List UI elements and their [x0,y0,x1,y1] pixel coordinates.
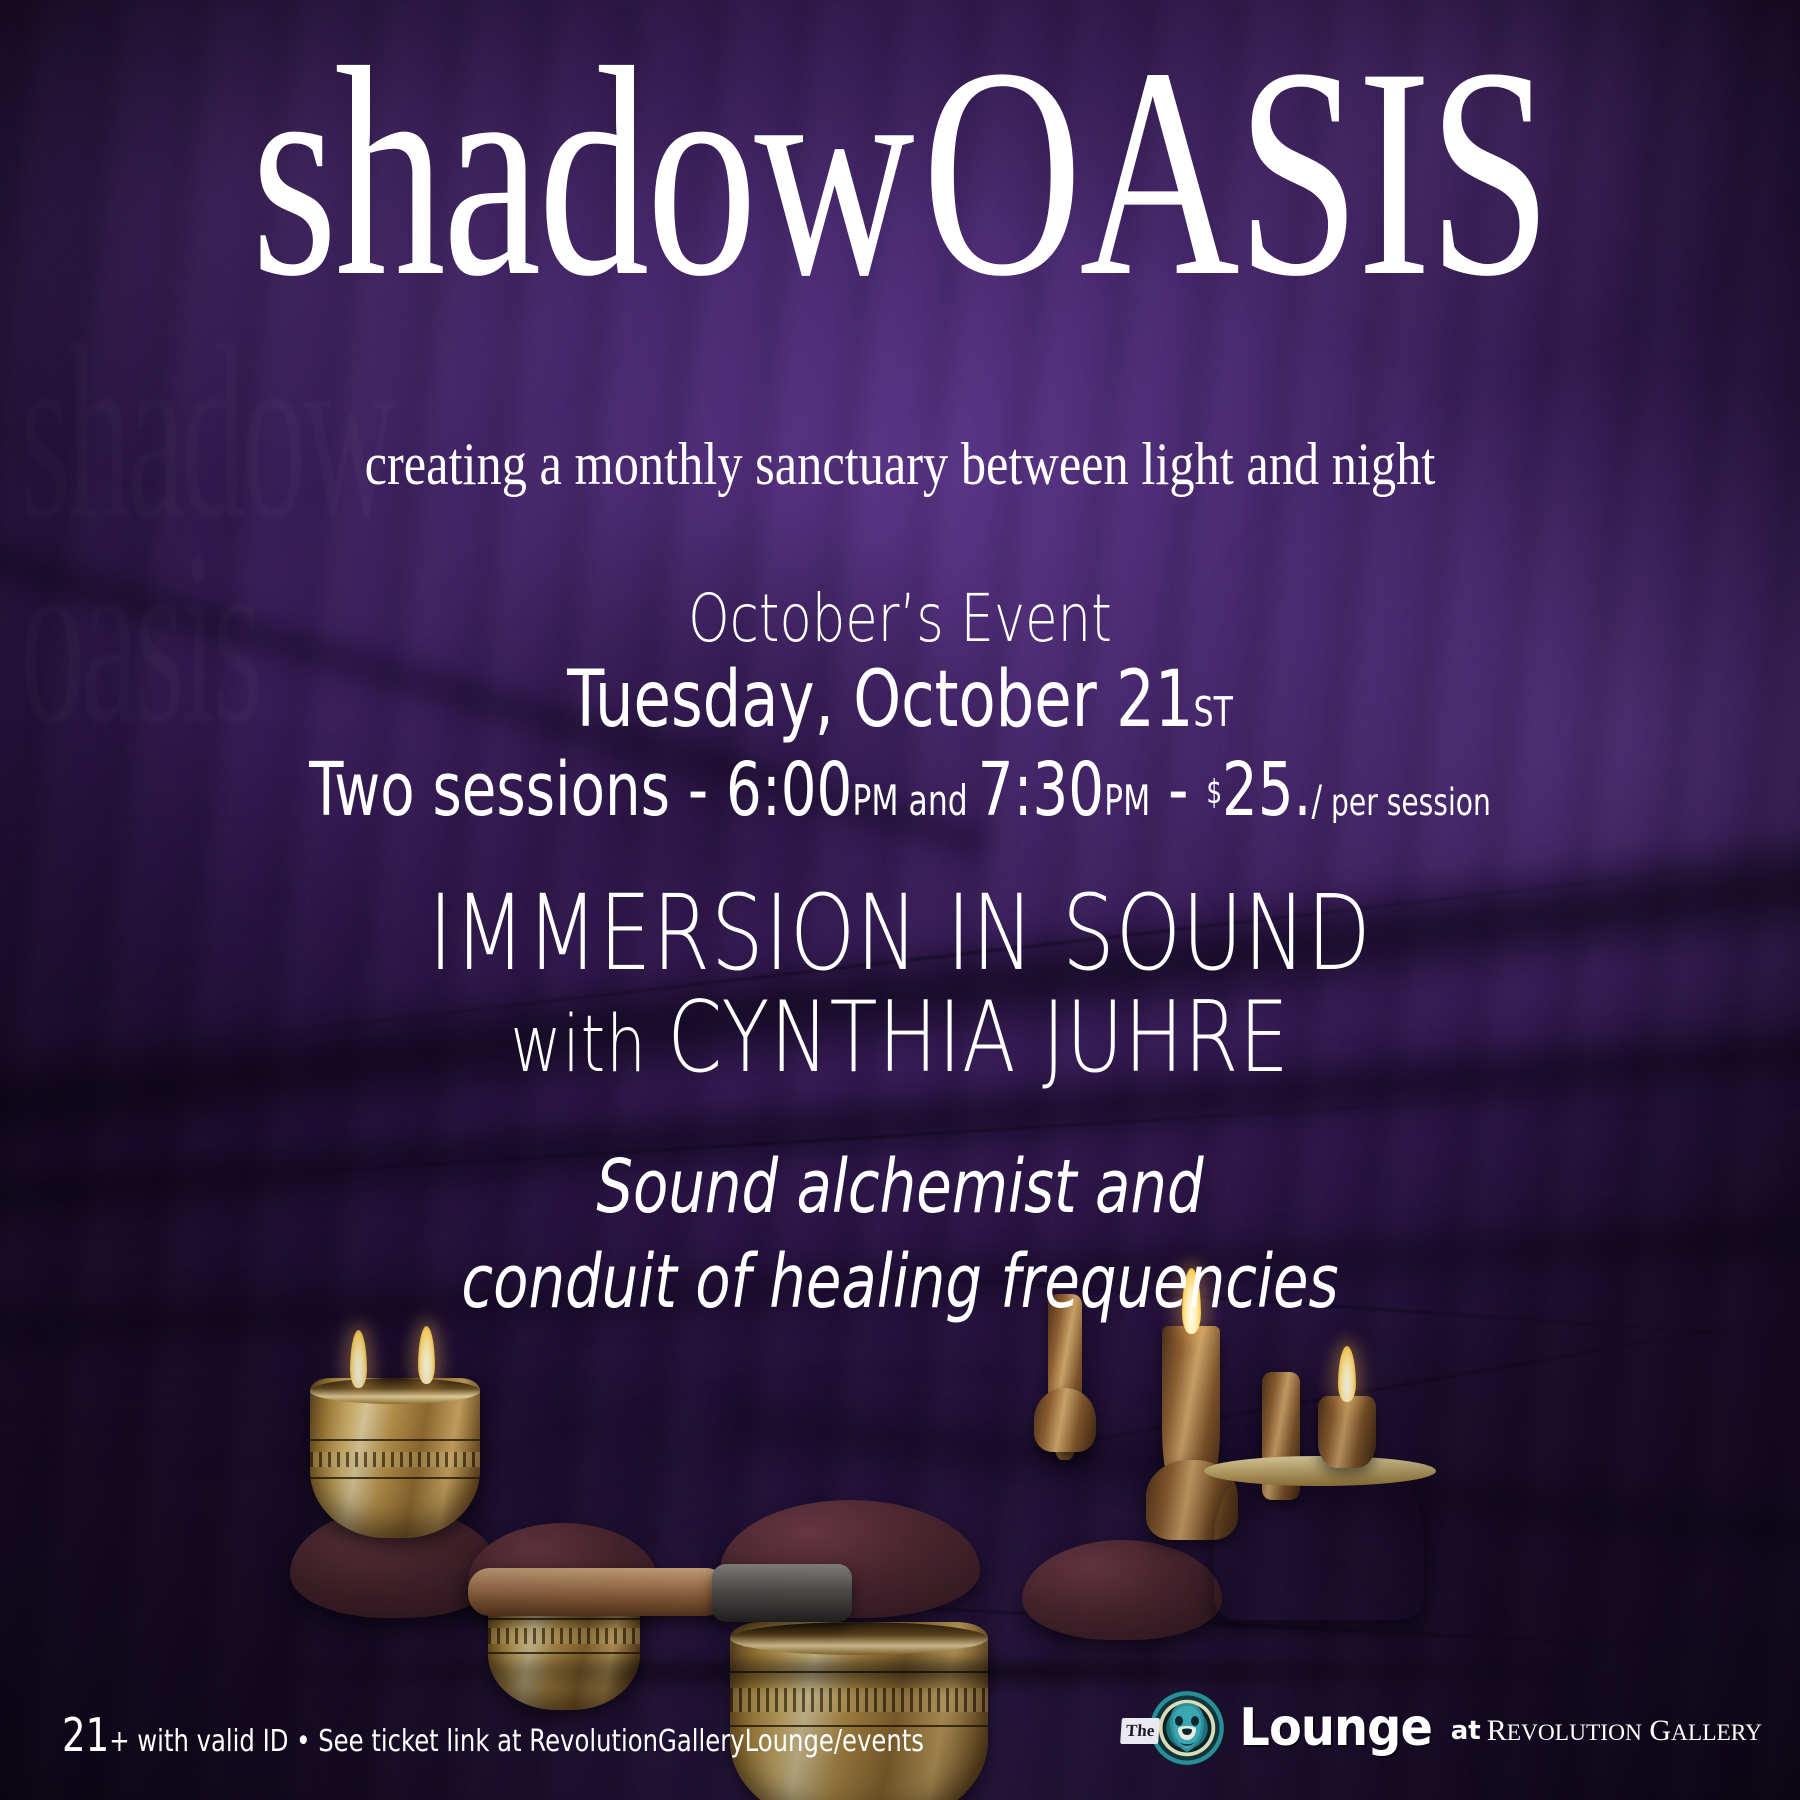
venue-logo[interactable]: The Lounge at REVOLUTION GALLERY [1121,1690,1762,1766]
event-poster: shadow oasis [0,0,1800,1800]
event-date: Tuesday, October 21ST [198,658,1602,742]
session-time-two: 7:30 [978,747,1104,833]
footer-fine-print: + with valid ID • See ticket link at Rev… [109,1724,924,1759]
title-word-shadow: shadow [251,6,911,338]
price-separator: - [1150,747,1206,833]
price-amount: 25. [1222,747,1311,833]
event-details-block: October’s Event Tuesday, October 21ST Tw… [0,584,1800,832]
presenter-description-line-1: Sound alchemist and [198,1140,1602,1235]
title-word-oasis: OASIS [922,6,1549,338]
logo-the-badge: The [1120,1718,1160,1744]
tagline: creating a monthly sanctuary between lig… [144,430,1656,499]
headline-primary: IMMERSION IN SOUND [180,880,1620,986]
event-month-label: October’s Event [180,584,1620,654]
session-time-one: 6:00 [726,747,852,833]
footer-legal-text: 21+ with valid ID • See ticket link at R… [62,1708,924,1762]
headline-presenter: with CYNTHIA JUHRE [180,988,1620,1090]
gorilla-head-icon [1149,1690,1225,1766]
page-title: shadowOASIS [234,22,1566,322]
headline-block: IMMERSION IN SOUND with CYNTHIA JUHRE [0,880,1800,1090]
logo-gallery-name: REVOLUTION GALLERY [1487,1716,1762,1746]
presenter-description-line-2: conduit of healing frequencies [198,1235,1602,1330]
sessions-prefix: Two sessions - [309,747,726,833]
session-time-one-period: PM [852,777,898,825]
gallery-initial-g: G [1642,1714,1671,1747]
presenter-with-label: with [510,999,667,1090]
gallery-initial-r: R [1487,1714,1507,1747]
gorilla-head-glyph [1165,1702,1209,1754]
logo-wordmark: Lounge [1240,1702,1433,1754]
poster-content: shadowOASIS creating a monthly sanctuary… [0,0,1800,1800]
presenter-name: CYNTHIA JUHRE [667,981,1289,1095]
gallery-gallery: ALLERY [1671,1720,1762,1746]
price-slash: / [1312,777,1323,825]
age-requirement: 21 [62,1708,109,1762]
price-currency-symbol: $ [1206,773,1222,811]
price-unit: per session [1322,781,1491,824]
event-sessions-line: Two sessions - 6:00PM and 7:30PM - $25./… [216,750,1584,831]
gallery-revolution: EVOLUTION [1507,1720,1642,1746]
sessions-conjunction: and [899,777,978,825]
presenter-description: Sound alchemist and conduit of healing f… [198,1140,1602,1329]
session-time-two-period: PM [1104,777,1150,825]
event-date-main: Tuesday, October 21 [567,655,1193,745]
logo-at-label: at [1451,1718,1481,1744]
event-date-ordinal: ST [1194,688,1233,736]
